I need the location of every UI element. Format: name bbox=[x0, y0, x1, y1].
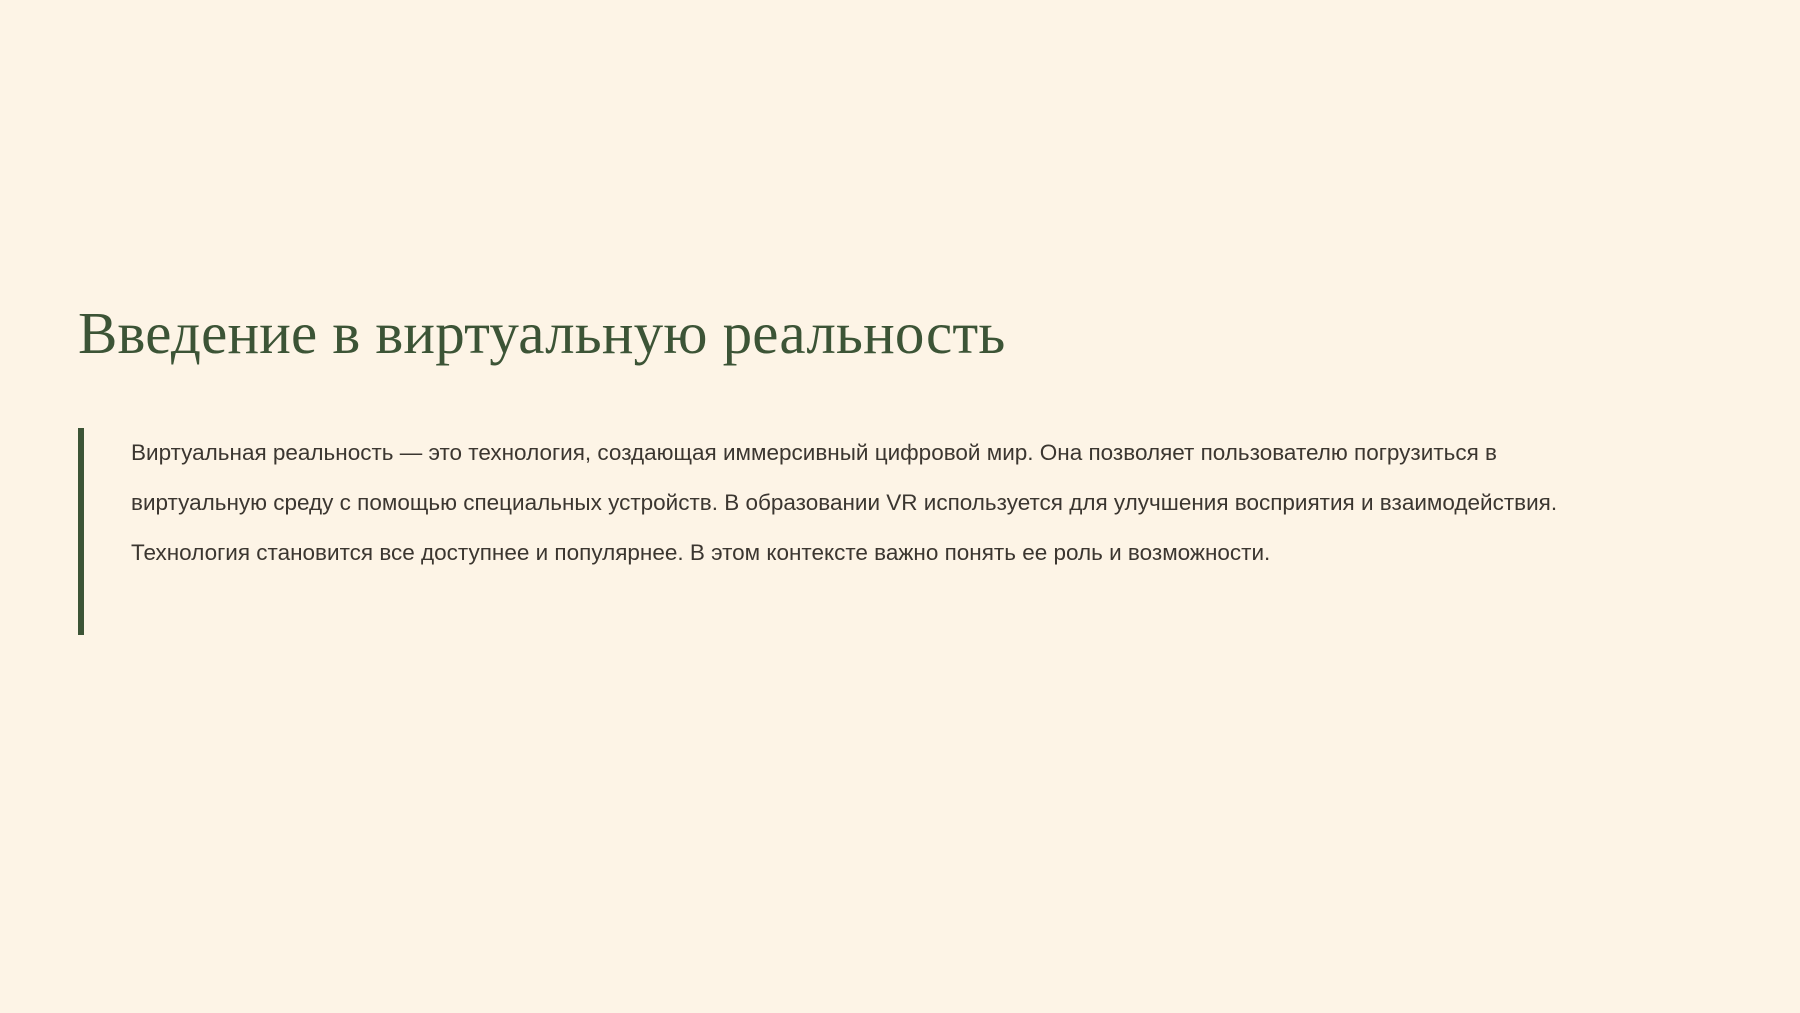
page-title: Введение в виртуальную реальность bbox=[78, 300, 1718, 366]
slide-canvas: Введение в виртуальную реальность Виртуа… bbox=[0, 0, 1800, 1013]
accent-bar bbox=[78, 428, 84, 635]
body-paragraph: Виртуальная реальность — это технология,… bbox=[131, 428, 1613, 578]
content-block: Введение в виртуальную реальность Виртуа… bbox=[78, 300, 1718, 578]
body-section: Виртуальная реальность — это технология,… bbox=[78, 428, 1718, 578]
